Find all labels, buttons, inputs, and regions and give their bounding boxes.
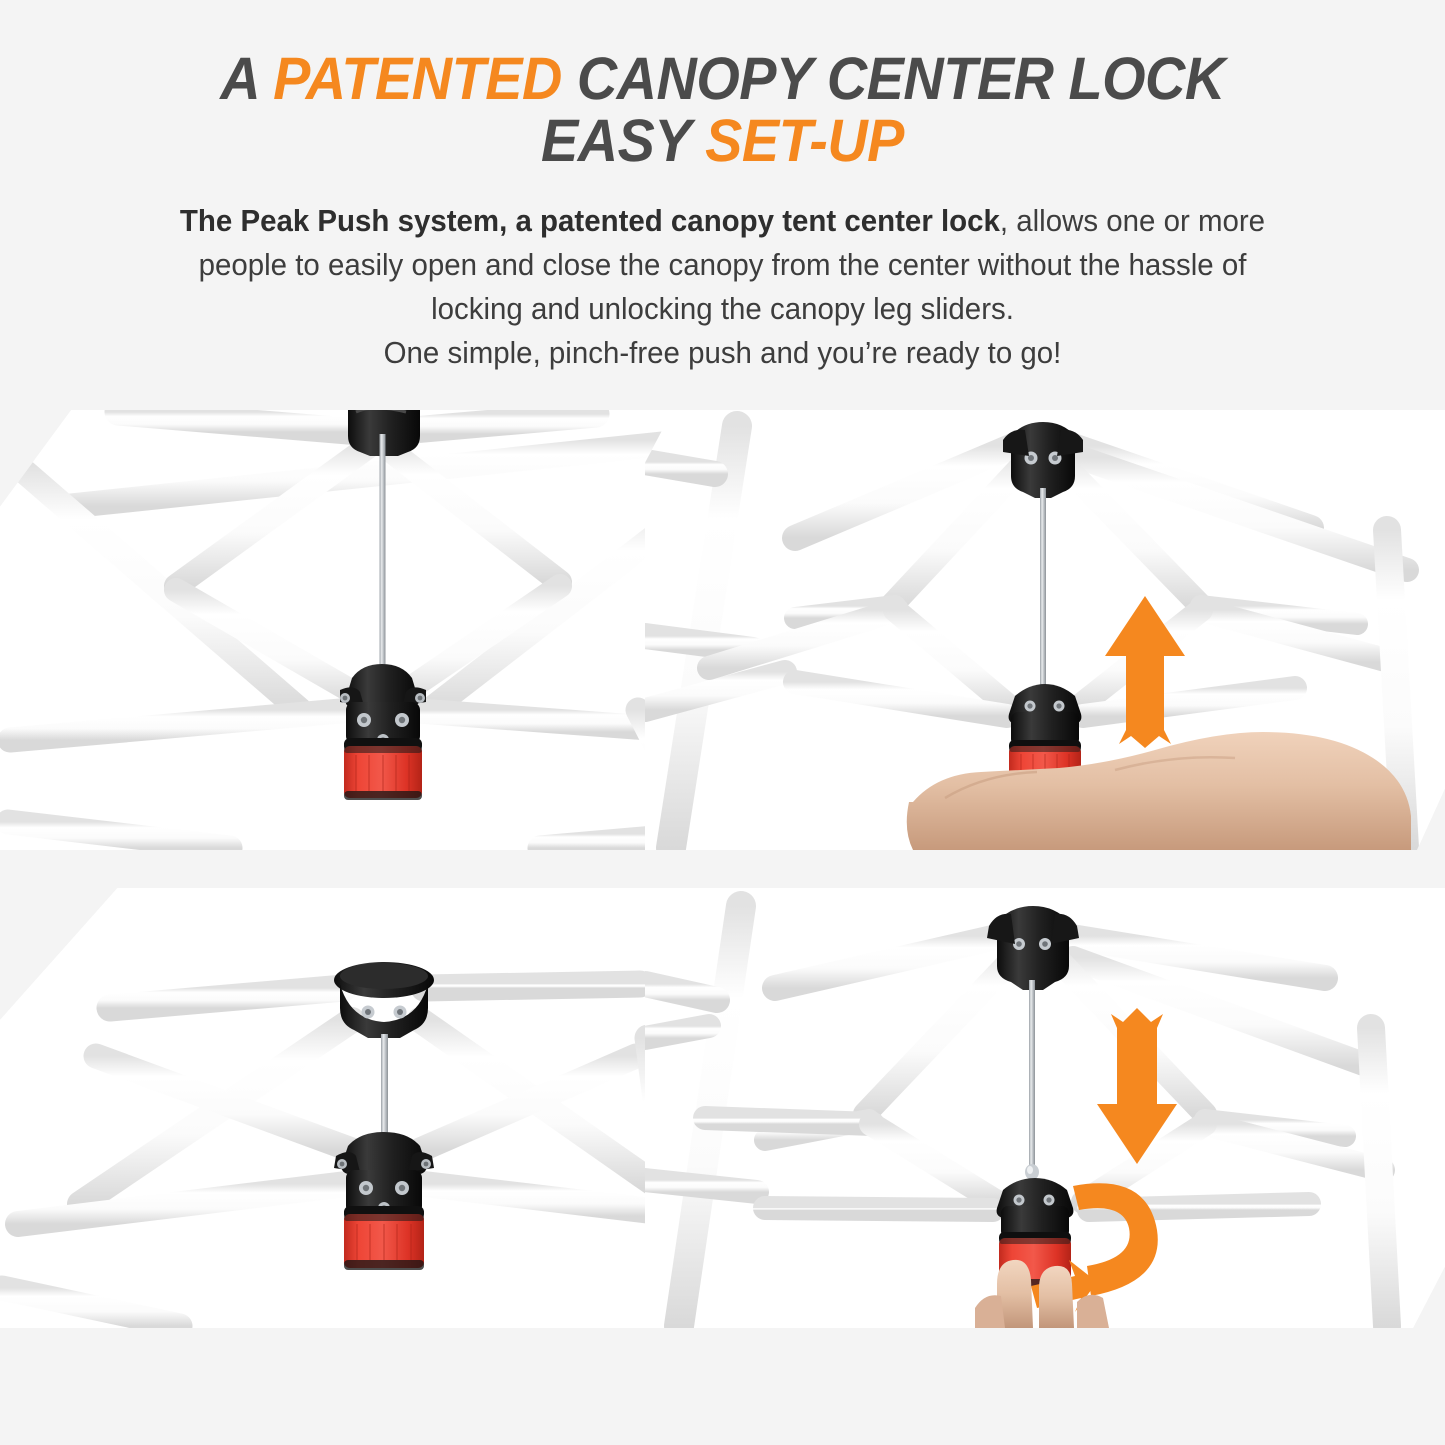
panel-push-up: [645, 410, 1445, 850]
description-line-1: The Peak Push system, a patented canopy …: [124, 199, 1322, 243]
top-hub-black: [1003, 422, 1083, 498]
description-line-3: locking and unlocking the canopy leg sli…: [124, 287, 1322, 331]
panel-3-illustration: [0, 888, 712, 1328]
headline-line1: A PATENTED CANOPY CENTER LOCK: [220, 45, 1224, 112]
headline-accent-setup: SET-UP: [705, 107, 904, 174]
headline-line2: EASY SET-UP: [51, 110, 1395, 172]
center-lock-hub: [334, 1132, 434, 1270]
photo-grid: [0, 408, 1445, 1348]
description-rest-1: , allows one or more: [1000, 203, 1265, 238]
description-line-2: people to easily open and close the cano…: [124, 243, 1322, 287]
panel-frame-locked: [0, 888, 712, 1328]
headline-text-c: EASY: [541, 107, 705, 174]
center-rod: [381, 1034, 388, 1148]
panel-1-illustration: [0, 410, 712, 850]
panel-twist-down: [645, 888, 1445, 1328]
center-lock-hub: [340, 664, 426, 800]
page-title: A PATENTED CANOPY CENTER LOCK EASY SET-U…: [51, 48, 1395, 173]
headline-text-b: CANOPY CENTER LOCK: [562, 45, 1225, 112]
headline-text-a: A: [220, 45, 273, 112]
description-bold-lead: The Peak Push system, a patented canopy …: [180, 203, 1000, 238]
description-line-4: One simple, pinch-free push and you’re r…: [124, 331, 1322, 375]
header: A PATENTED CANOPY CENTER LOCK EASY SET-U…: [0, 0, 1445, 375]
panel-4-illustration: [645, 888, 1445, 1328]
panel-2-illustration: [645, 410, 1445, 850]
description-block: The Peak Push system, a patented canopy …: [36, 199, 1409, 375]
infographic-page: A PATENTED CANOPY CENTER LOCK EASY SET-U…: [0, 0, 1445, 1445]
headline-accent-patented: PATENTED: [273, 45, 562, 112]
panel-frame-unlocked: [0, 410, 712, 850]
